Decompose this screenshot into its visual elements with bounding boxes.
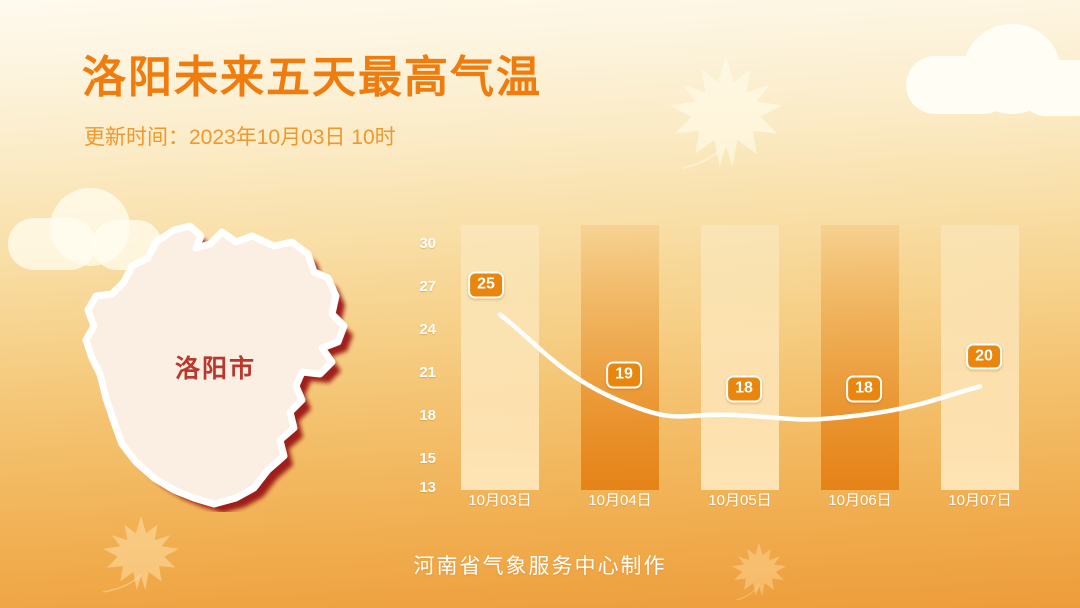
y-axis-tick: 18 <box>408 408 436 423</box>
y-axis-tick: 27 <box>408 279 436 294</box>
temperature-curve <box>440 225 1040 505</box>
temperature-badge: 25 <box>468 271 504 298</box>
map-region-label: 洛阳市 <box>175 357 256 382</box>
x-axis-tick: 10月06日 <box>828 493 891 508</box>
y-axis-tick: 15 <box>408 451 436 466</box>
weather-forecast-poster: 洛阳未来五天最高气温 更新时间：2023年10月03日 10时 洛阳市 3027… <box>0 0 1080 608</box>
temperature-chart: 30272421181513 2519181820 10月03日10月04日10… <box>440 225 1040 505</box>
maple-leaf-bottom-left-icon <box>98 508 184 600</box>
footer-credit: 河南省气象服务中心制作 <box>0 556 1080 577</box>
page-title: 洛阳未来五天最高气温 <box>82 56 542 100</box>
maple-leaf-top-icon <box>662 46 790 180</box>
x-axis-tick: 10月04日 <box>588 493 651 508</box>
x-axis-tick: 10月03日 <box>468 493 531 508</box>
y-axis-tick: 24 <box>408 322 436 337</box>
update-time-text: 更新时间：2023年10月03日 10时 <box>84 127 396 148</box>
temperature-badge: 18 <box>726 376 762 403</box>
luoyang-map: 洛阳市 <box>70 222 380 512</box>
temperature-badge: 20 <box>966 343 1002 370</box>
temperature-badge: 18 <box>846 376 882 403</box>
x-axis-tick: 10月05日 <box>708 493 771 508</box>
x-axis-tick: 10月07日 <box>948 493 1011 508</box>
y-axis-tick: 21 <box>408 365 436 380</box>
y-axis-tick: 13 <box>408 480 436 495</box>
y-axis-tick: 30 <box>408 236 436 251</box>
cloud-top-right-icon <box>906 18 1080 110</box>
temperature-badge: 19 <box>606 361 642 388</box>
